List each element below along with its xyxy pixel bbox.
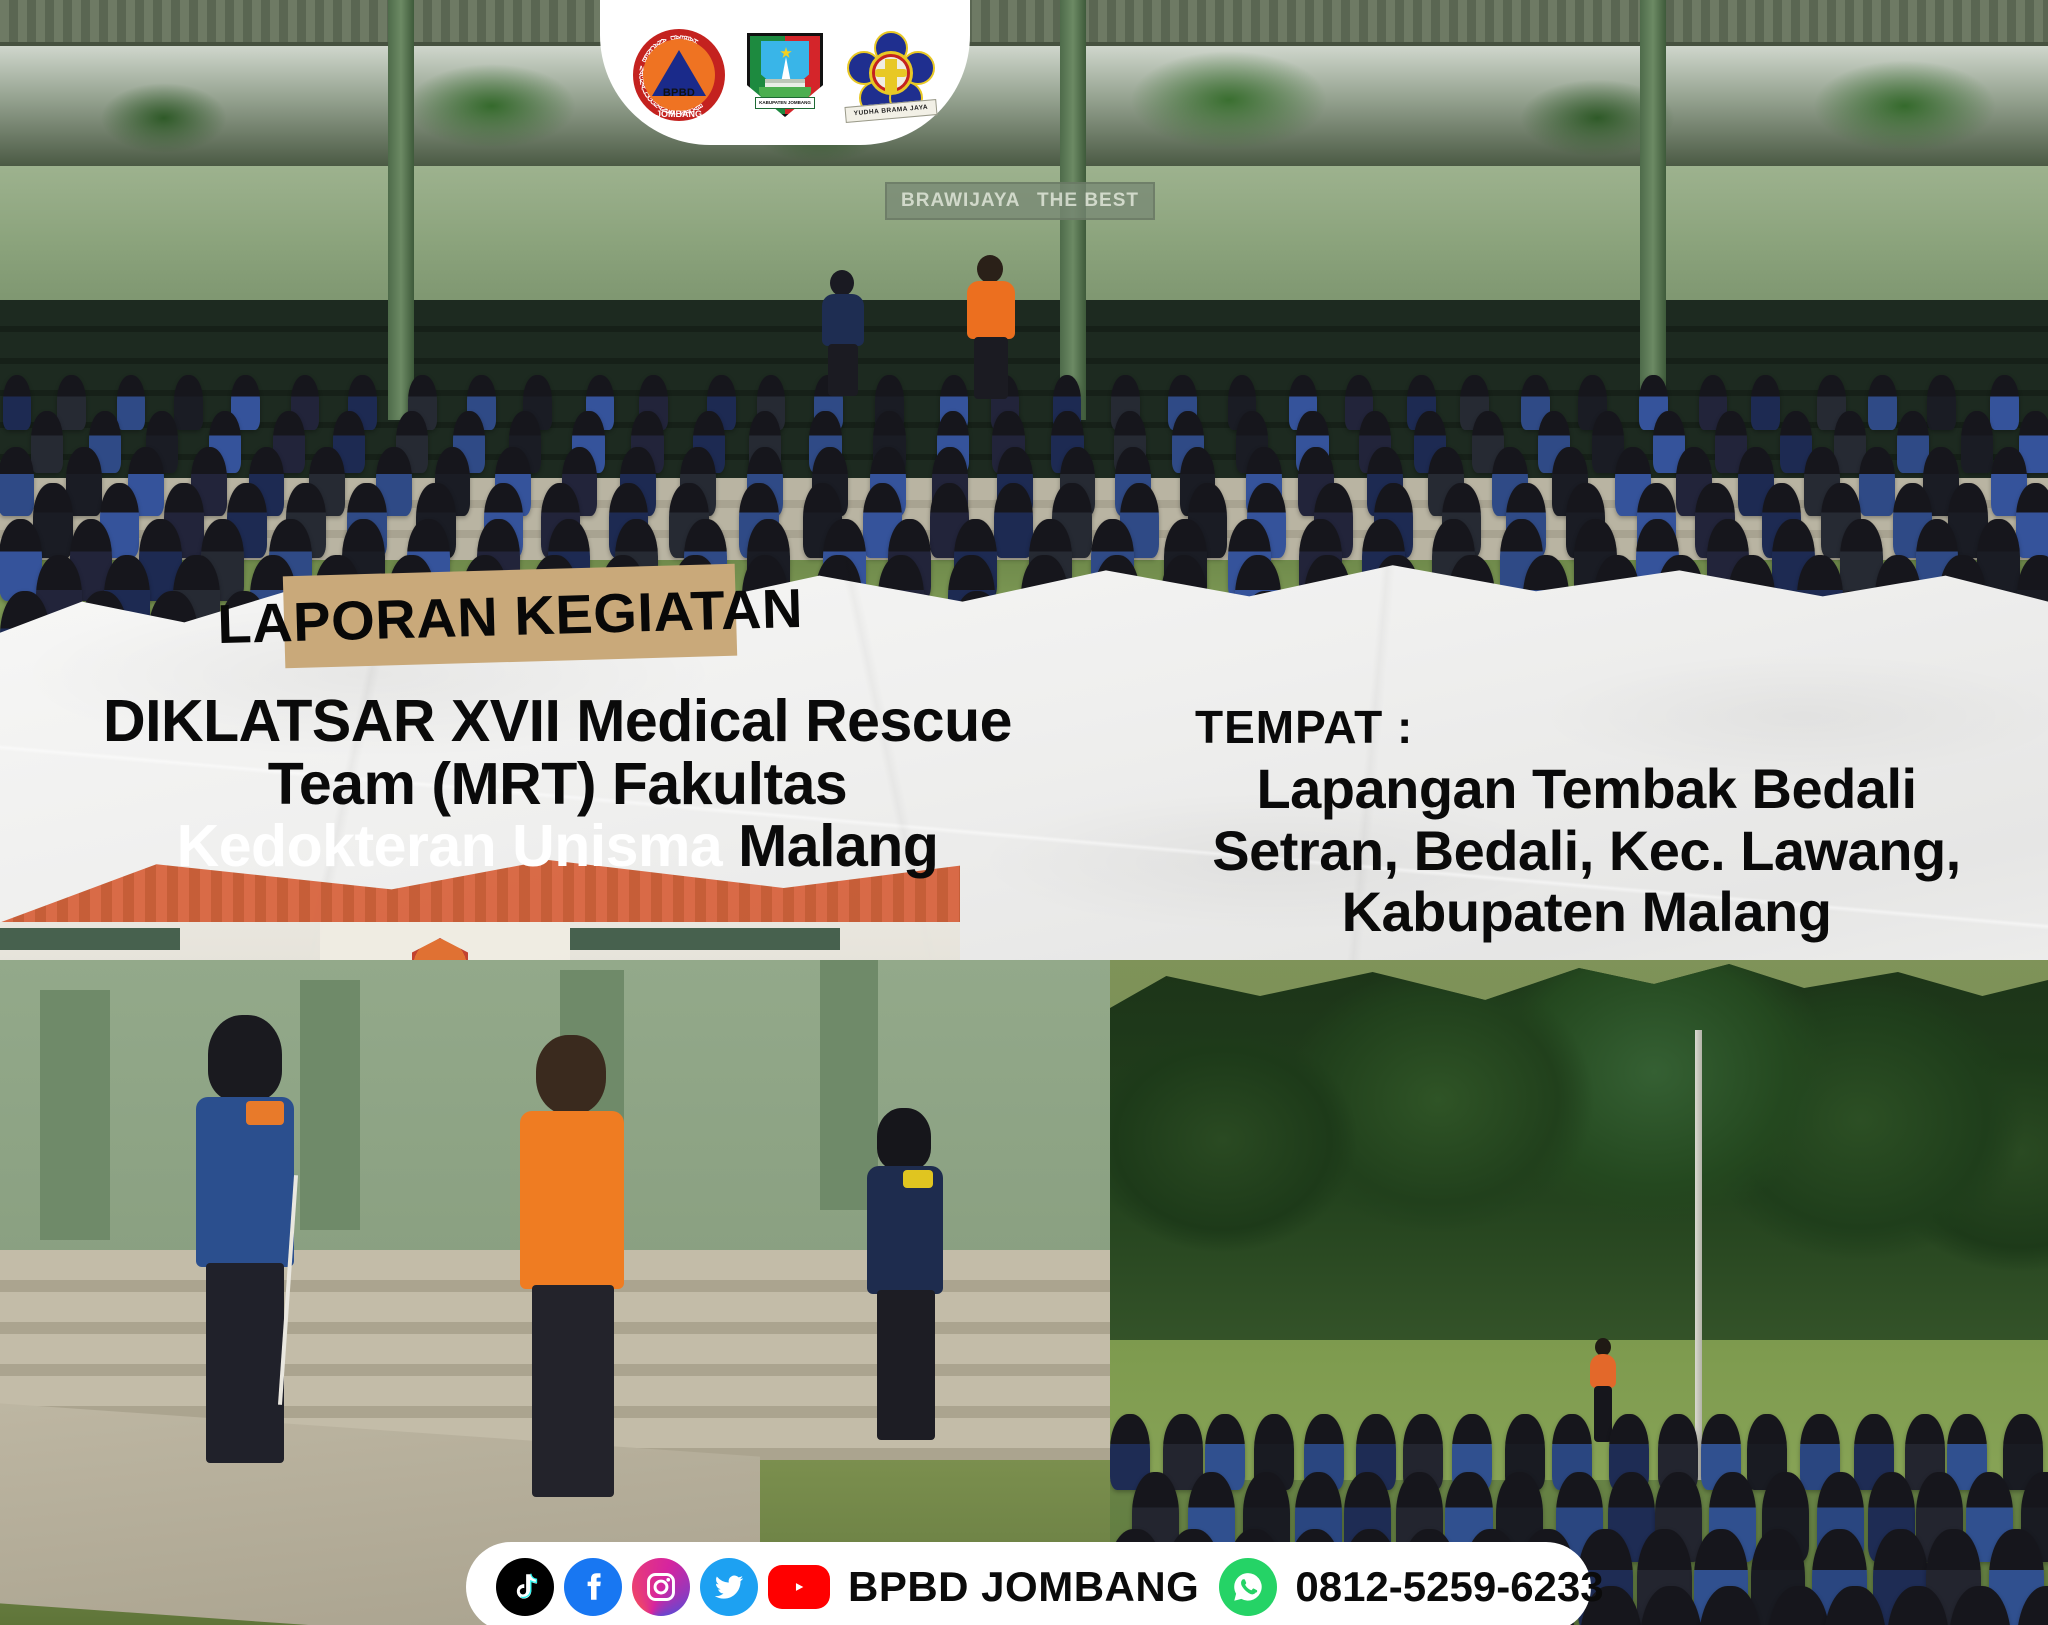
venue-value: Lapangan Tembak Bedali Setran, Bedali, K… — [1125, 758, 2048, 943]
crowd-person — [1990, 375, 2019, 430]
illustration-canopy-left — [0, 928, 180, 950]
banner-left-text: BRAWIJAYA — [901, 190, 1021, 212]
damkar-yudha-brama-jaya-logo: YUDHA BRAMA JAYA — [845, 29, 937, 121]
crowd-person — [1751, 375, 1780, 430]
wall-panel — [40, 990, 110, 1240]
pillar — [1640, 0, 1666, 420]
banner-right-text: THE BEST — [1037, 190, 1139, 212]
shield-ribbon: KABUPATEN JOMBANG — [755, 97, 815, 109]
instagram-icon[interactable] — [632, 1558, 690, 1616]
grandstand-roof — [0, 0, 2048, 46]
tiktok-icon[interactable] — [496, 1558, 554, 1616]
crowd-person — [1961, 411, 1993, 472]
title-line-3-highlight: Kedokteran Unisma — [177, 813, 723, 879]
report-badge: LAPORAN KEGIATAN — [283, 564, 737, 669]
title-line-1: DIKLATSAR XVII Medical Rescue — [0, 690, 1115, 753]
whatsapp-icon[interactable] — [1219, 1558, 1277, 1616]
crowd-person — [57, 375, 86, 430]
twitter-icon[interactable] — [700, 1558, 758, 1616]
motto-banner: YUDHA BRAMA JAYA — [844, 99, 937, 123]
pillar — [388, 0, 414, 420]
activity-report-poster: BRAWIJAYA THE BEST PUSDALOPS PB KAB. JOM — [0, 0, 2048, 1625]
photo-bottom-right-field — [1110, 960, 2048, 1625]
jombang-coat-of-arms: KABUPATEN JOMBANG — [739, 29, 831, 121]
crowd-person — [1859, 447, 1895, 515]
fire-hose-icon — [875, 69, 907, 77]
crowd-person — [1868, 375, 1897, 430]
stadium-banner: BRAWIJAYA THE BEST — [885, 182, 1155, 220]
poster-title: DIKLATSAR XVII Medical Rescue Team (MRT)… — [0, 690, 1115, 878]
crowd-person — [994, 483, 1033, 558]
venue-block: TEMPAT : Lapangan Tembak Bedali Setran, … — [1125, 700, 2048, 943]
footer-account-name: BPBD JOMBANG — [848, 1563, 1199, 1611]
venue-line-2: Setran, Bedali, Kec. Lawang, — [1125, 820, 2048, 882]
footer-phone-number: 0812-5259-6233 — [1295, 1563, 1603, 1611]
report-badge-label: LAPORAN KEGIATAN — [216, 576, 803, 656]
venue-label: TEMPAT : — [1125, 700, 2048, 754]
crowd-person — [2016, 483, 2048, 558]
illustration-canopy-right — [570, 928, 840, 950]
bpbd-region-label: JOMBANG — [633, 109, 725, 119]
crowd-person — [0, 447, 34, 515]
crowd-person — [31, 411, 63, 472]
title-line-3-rest: Malang — [722, 813, 938, 879]
title-line-3: Kedokteran Unisma Malang — [0, 815, 1115, 878]
footer-contact-bar: BPBD JOMBANG 0812-5259-6233 — [466, 1542, 1591, 1625]
logo-header-pill: BADAN PENANGGULANGAN BENCANA DAERAH BPBD… — [600, 0, 970, 145]
title-line-2: Team (MRT) Fakultas — [0, 753, 1115, 816]
crowd-person — [1927, 375, 1956, 430]
youtube-icon[interactable] — [768, 1565, 830, 1609]
photo-bottom-left-briefing — [0, 960, 1110, 1625]
wall-panel — [300, 980, 360, 1230]
facebook-icon[interactable] — [564, 1558, 622, 1616]
background-trees — [0, 46, 2048, 166]
bpbd-logo: BADAN PENANGGULANGAN BENCANA DAERAH BPBD… — [633, 29, 725, 121]
photo-top-grandstand: BRAWIJAYA THE BEST — [0, 0, 2048, 640]
bpbd-logo-inner: BPBD — [643, 39, 715, 111]
venue-line-1: Lapangan Tembak Bedali — [1125, 758, 2048, 820]
venue-line-3: Kabupaten Malang — [1125, 881, 2048, 943]
crowd-person — [174, 375, 203, 430]
crowd-person — [117, 375, 146, 430]
bpbd-acronym: BPBD — [643, 87, 715, 99]
tree-line — [1110, 960, 2048, 1360]
crowd-person — [3, 375, 32, 430]
